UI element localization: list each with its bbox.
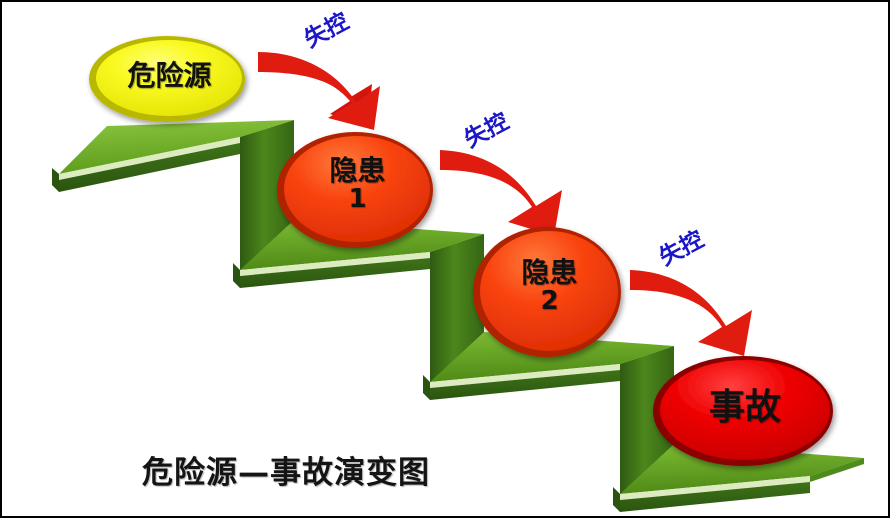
step-1 (52, 120, 294, 270)
hazard-source-ellipse[interactable] (89, 36, 245, 122)
arrow-2 (440, 150, 562, 236)
arrow-2-body (440, 150, 562, 236)
diagram-canvas: 危险源 隐患 1 隐患 2 事故 失控 失控 失控 失控 失控 失控 危险源—事… (0, 0, 890, 518)
staircase-scene (2, 2, 890, 518)
step-2-left-riser-face (233, 263, 240, 288)
step-1-left-cap (52, 168, 59, 192)
arrow-3 (630, 270, 752, 356)
diagram-caption: 危险源—事故演变图 (142, 447, 430, 492)
step-4-left-riser-face (613, 487, 620, 512)
step-3-left-riser-face (423, 375, 430, 400)
risk-2-ellipse[interactable] (473, 227, 621, 357)
arrow-1 (258, 52, 380, 130)
accident-ellipse[interactable] (653, 356, 833, 466)
risk-1-ellipse[interactable] (277, 132, 433, 248)
arrow-3-body (630, 270, 752, 356)
